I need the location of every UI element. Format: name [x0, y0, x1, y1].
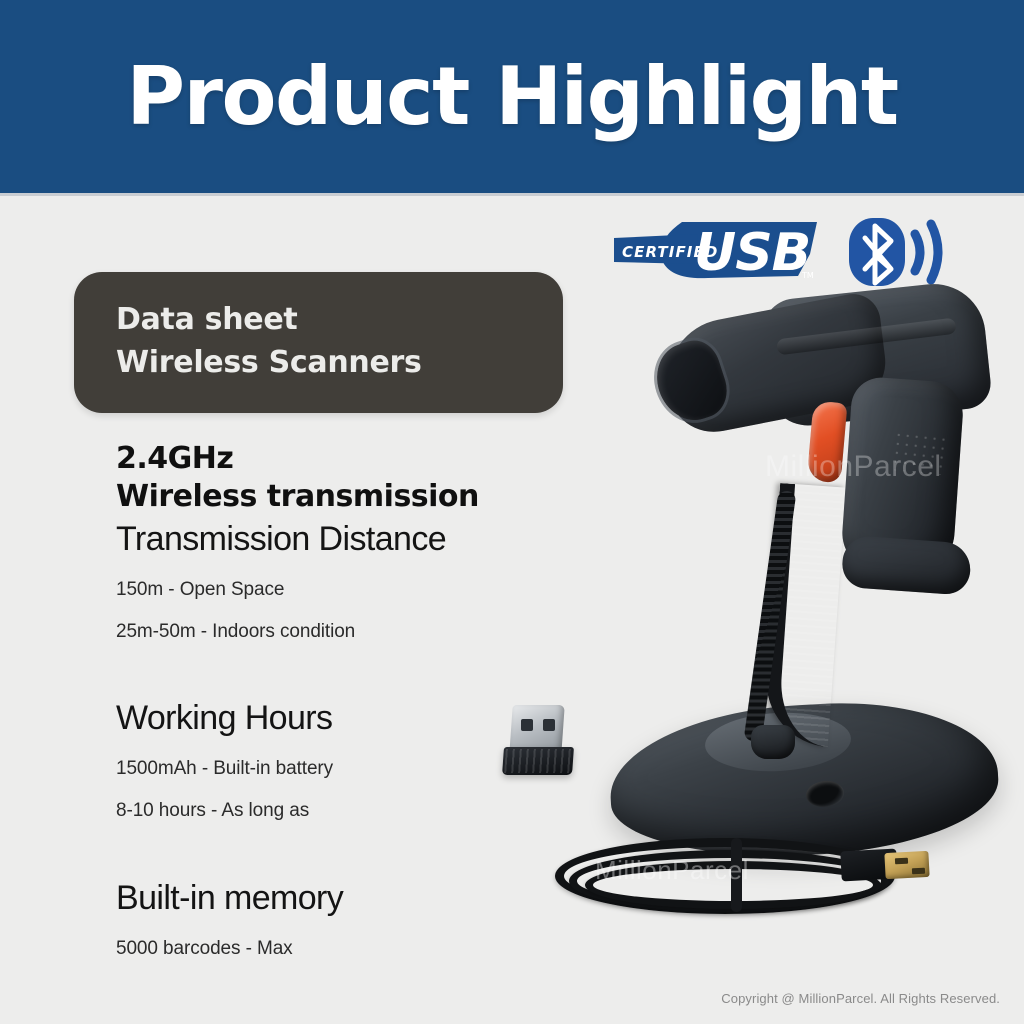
usb-a-connector	[884, 851, 929, 879]
header-banner: Product Highlight	[0, 0, 1024, 193]
dongle-contact-slot	[543, 719, 555, 731]
usb-nano-dongle	[495, 697, 579, 779]
scanner-grip-foot	[841, 535, 972, 596]
scanner-trigger	[807, 401, 848, 484]
copyright-footer: Copyright @ MillionParcel. All Rights Re…	[721, 991, 1000, 1006]
usb-connector-slot	[895, 858, 908, 865]
gooseneck-collar	[751, 725, 795, 759]
scanner-speaker-grille	[891, 430, 949, 475]
usb-trademark: TM	[801, 271, 814, 280]
dongle-shell-ridges	[504, 749, 572, 773]
dongle-contact-slot	[521, 719, 533, 731]
usb-cable	[555, 830, 975, 940]
certification-logos: CERTIFIED USB TM	[612, 216, 952, 288]
barcode-scanner-gun	[655, 284, 995, 595]
banner-divider	[0, 193, 1024, 196]
page-title: Product Highlight	[126, 57, 897, 137]
product-image: MillionParcel MillionParcel	[455, 285, 1024, 965]
cable-tie	[731, 838, 742, 912]
usb-wordmark: USB	[694, 223, 810, 282]
usb-certified-logo: CERTIFIED USB TM	[612, 220, 824, 282]
bluetooth-logo	[847, 216, 947, 288]
usb-connector-slot	[912, 868, 925, 875]
